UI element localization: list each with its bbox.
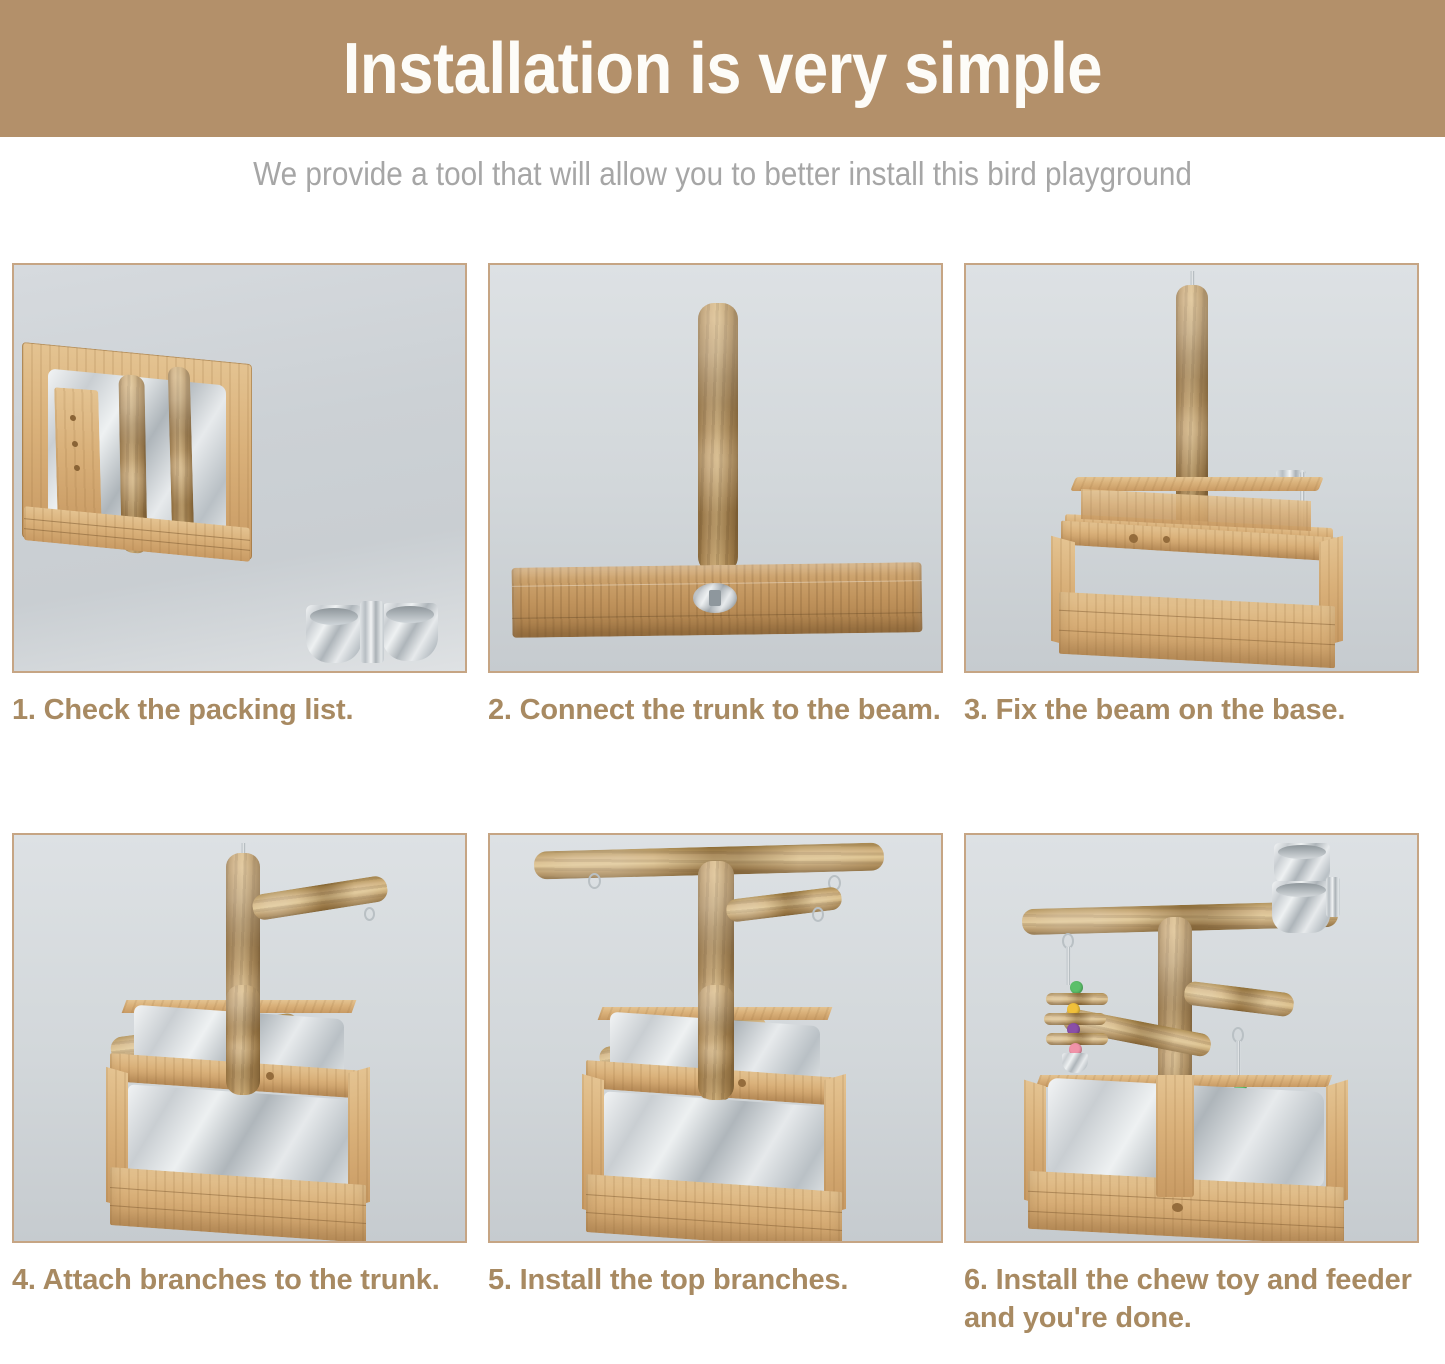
step-3-caption: 3. Fix the beam on the base. bbox=[964, 673, 1419, 833]
step-4-photo bbox=[12, 833, 467, 1243]
wooden-tray-base bbox=[22, 353, 252, 583]
step-1-caption: 1. Check the packing list. bbox=[12, 673, 467, 833]
steps-grid: 1. Check the packing list. 2. Connect th… bbox=[12, 263, 1433, 1353]
step-6-caption: 6. Install the chew toy and feeder and y… bbox=[964, 1243, 1419, 1353]
hanging-ring-left bbox=[588, 873, 601, 889]
page-title: Installation is very simple bbox=[343, 33, 1102, 105]
step-3-photo bbox=[964, 263, 1419, 673]
ladder-toy-with-beads-and-bell bbox=[1044, 933, 1116, 1093]
hanging-ring-right bbox=[364, 907, 375, 921]
step-6-photo bbox=[964, 833, 1419, 1243]
bark-trunk-vertical bbox=[698, 303, 738, 573]
two-stainless-feeder-cups bbox=[1266, 843, 1344, 945]
step-1-photo bbox=[12, 263, 467, 673]
subtitle-row: We provide a tool that will allow you to… bbox=[0, 143, 1445, 205]
step-2-caption: 2. Connect the trunk to the beam. bbox=[488, 673, 943, 833]
step-2-photo bbox=[488, 263, 943, 673]
wooden-box-base bbox=[1051, 477, 1341, 667]
step-5-photo bbox=[488, 833, 943, 1243]
header-band: Installation is very simple bbox=[0, 0, 1445, 137]
step-5-caption: 5. Install the top branches. bbox=[488, 1243, 943, 1353]
step-4-caption: 4. Attach branches to the trunk. bbox=[12, 1243, 467, 1353]
two-stainless-feeder-cups bbox=[302, 599, 442, 669]
page-subtitle: We provide a tool that will allow you to… bbox=[253, 155, 1192, 193]
bark-trunk-short bbox=[168, 366, 195, 544]
installation-infographic: Installation is very simple We provide a… bbox=[0, 0, 1445, 1364]
